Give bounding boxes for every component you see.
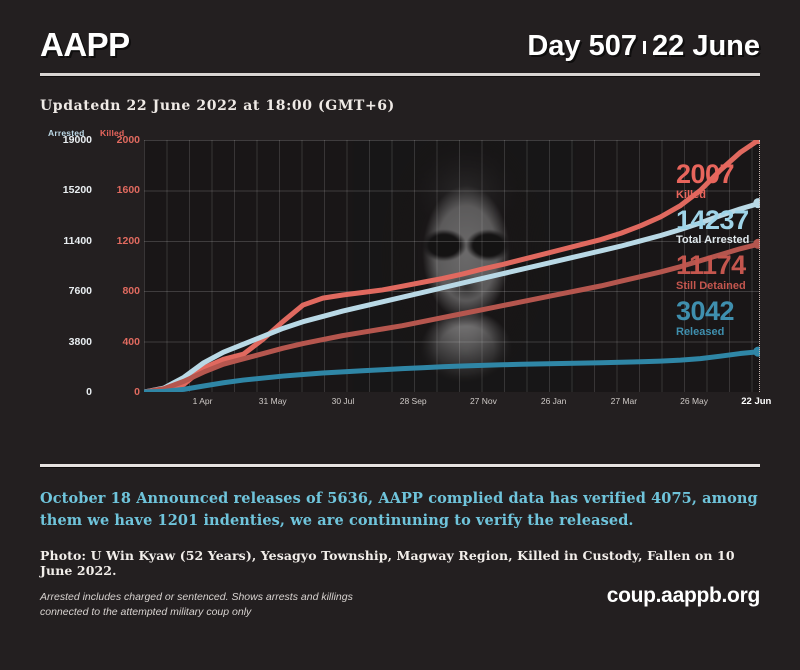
header: AAPP Day 507 22 June xyxy=(40,0,760,67)
x-tick: 26 May xyxy=(680,396,708,406)
release-note: October 18 Announced releases of 5636, A… xyxy=(40,488,760,532)
x-axis-ticks: 1 Apr31 May30 Jul28 Sep27 Nov26 Jan27 Ma… xyxy=(144,392,760,410)
series-line-total-arrested xyxy=(144,203,760,392)
x-tick: 28 Sep xyxy=(400,396,427,406)
y-left-tick: 0 xyxy=(86,386,92,398)
chart: Arrested Killed 190001520011400760038000… xyxy=(40,128,760,408)
date-label: 22 June xyxy=(652,32,760,61)
callout-value: 2007 xyxy=(676,162,800,188)
callout-label: Released xyxy=(676,326,800,339)
callout-total-arrested: 14237Total Arrested xyxy=(676,208,800,248)
x-tick: 22 Jun xyxy=(741,396,771,407)
y-left-tick: 7600 xyxy=(69,285,92,297)
header-divider xyxy=(40,73,760,76)
y-left-tick: 15200 xyxy=(63,184,92,196)
poster-root: AAPP Day 507 22 June Updatedn 22 June 20… xyxy=(0,0,800,670)
plot-area xyxy=(144,140,760,392)
y-right-tick: 400 xyxy=(122,336,140,348)
x-tick: 26 Jan xyxy=(541,396,567,406)
series-lines xyxy=(144,140,760,392)
footer: October 18 Announced releases of 5636, A… xyxy=(40,488,760,620)
x-tick: 30 Jul xyxy=(332,396,355,406)
y-axis-left-ticks: 190001520011400760038000 xyxy=(40,140,92,392)
y-left-tick: 11400 xyxy=(63,235,92,247)
day-stamp: Day 507 22 June xyxy=(527,32,760,61)
callout-killed: 2007Killed xyxy=(676,162,800,202)
x-tick: 27 Mar xyxy=(611,396,637,406)
y-right-tick: 1200 xyxy=(117,235,140,247)
x-tick: 1 Apr xyxy=(193,396,213,406)
footer-divider xyxy=(40,464,760,467)
website-url[interactable]: coup.aappb.org xyxy=(607,584,760,608)
series-line-killed xyxy=(144,140,760,392)
callout-still-detained: 11174Still Detained xyxy=(676,253,800,293)
x-tick: 31 May xyxy=(259,396,287,406)
y-axis-right-ticks: 2000160012008004000 xyxy=(96,140,140,392)
callout-value: 14237 xyxy=(676,208,800,234)
y-right-tick: 1600 xyxy=(117,184,140,196)
callout-label: Still Detained xyxy=(676,280,800,293)
y-right-tick: 0 xyxy=(134,386,140,398)
y-left-tick: 3800 xyxy=(69,336,92,348)
updated-timestamp: Updatedn 22 June 2022 at 18:00 (GMT+6) xyxy=(40,98,760,114)
callout-released: 3042Released xyxy=(676,299,800,339)
chart-callouts: 2007Killed14237Total Arrested11174Still … xyxy=(676,162,800,344)
callout-value: 3042 xyxy=(676,299,800,325)
y-right-tick: 2000 xyxy=(117,134,140,146)
callout-label: Total Arrested xyxy=(676,234,800,247)
callout-label: Killed xyxy=(676,189,800,202)
day-label: Day 507 xyxy=(527,32,637,61)
day-separator-icon xyxy=(643,41,646,54)
y-left-tick: 19000 xyxy=(63,134,92,146)
photo-credit-note: Photo: U Win Kyaw (52 Years), Yesagyo To… xyxy=(40,548,760,578)
x-tick: 27 Nov xyxy=(470,396,497,406)
series-line-still-detained xyxy=(144,244,760,392)
brand-title: AAPP xyxy=(40,28,130,61)
callout-value: 11174 xyxy=(676,253,800,279)
y-right-tick: 800 xyxy=(122,285,140,297)
